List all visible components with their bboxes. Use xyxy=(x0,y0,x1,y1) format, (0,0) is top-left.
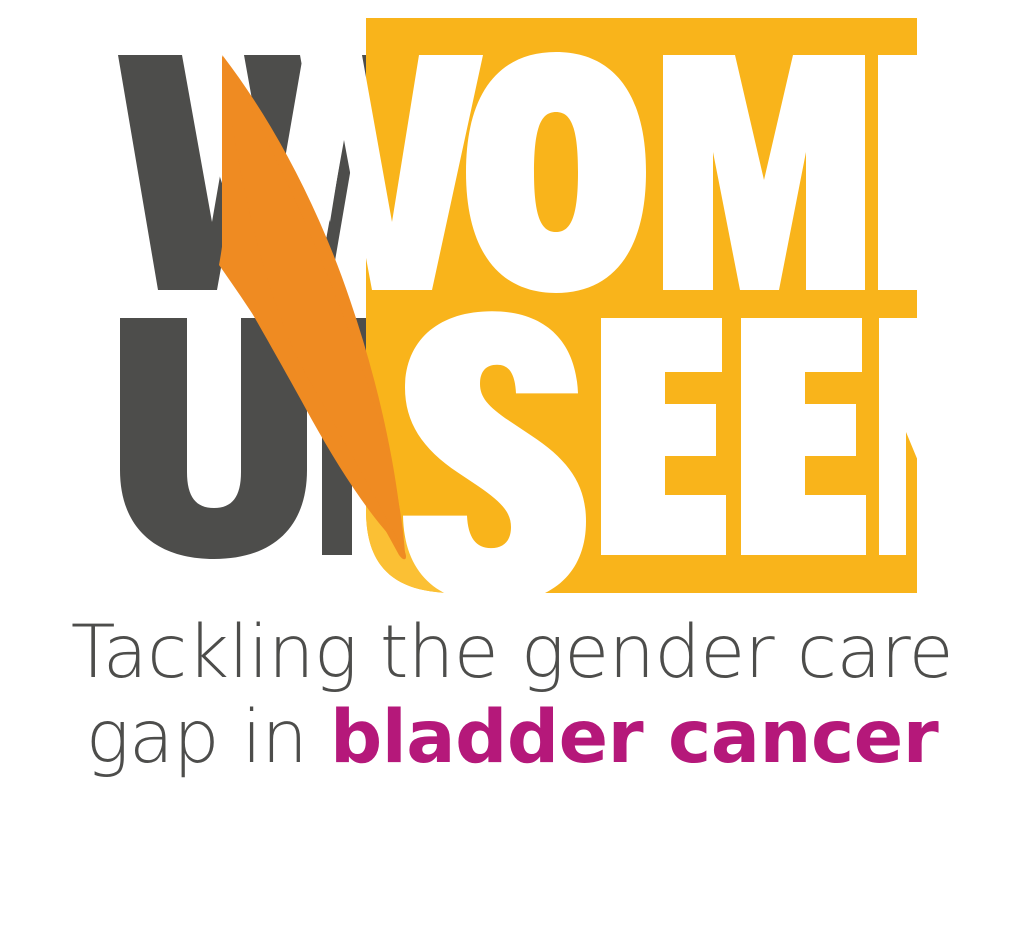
tagline-line-1: Tackling the gender care xyxy=(0,616,1024,689)
tagline-line-2: gap in bladder cancer xyxy=(0,701,1024,774)
tagline-line-2-prefix: gap in xyxy=(86,695,330,780)
tagline-emphasis-bladder-cancer: bladder cancer xyxy=(330,695,938,780)
women-unseen-logo-graphic xyxy=(0,0,1024,933)
tagline: Tackling the gender care gap in bladder … xyxy=(0,616,1024,774)
logo-container: Tackling the gender care gap in bladder … xyxy=(0,0,1024,933)
